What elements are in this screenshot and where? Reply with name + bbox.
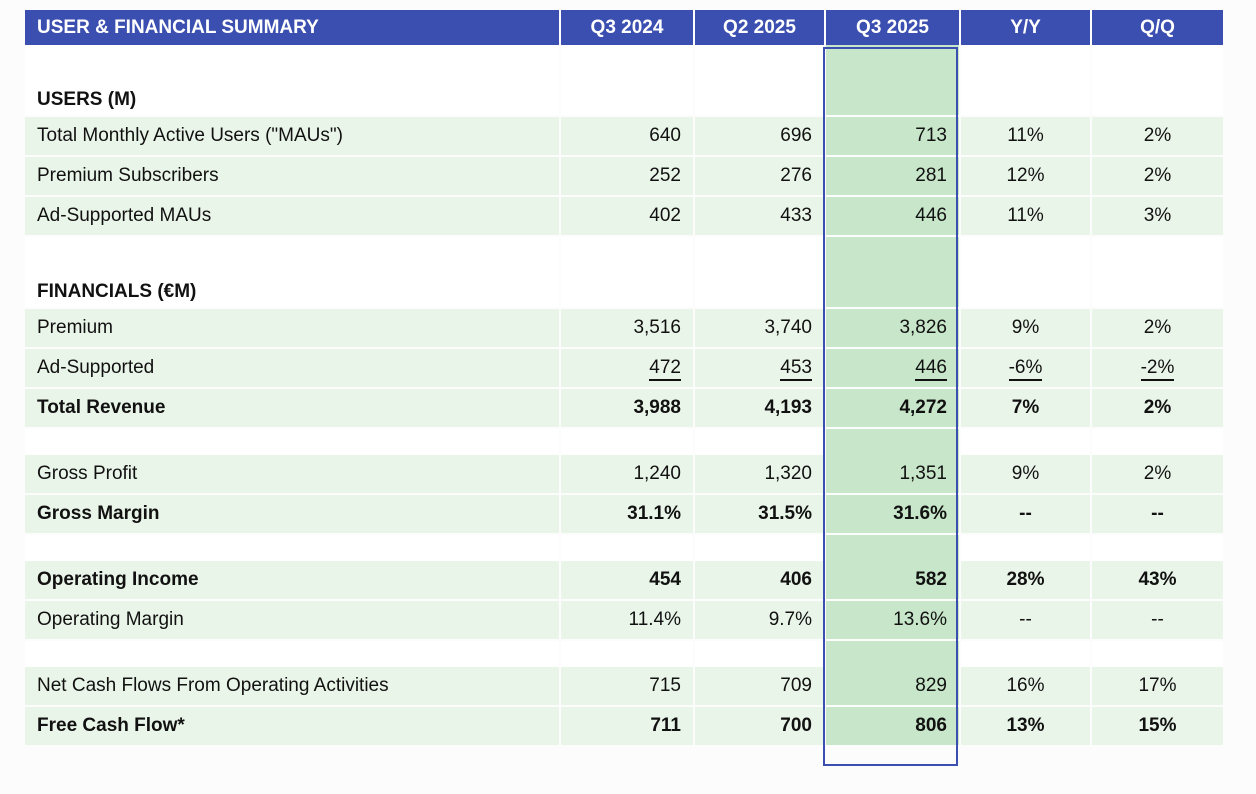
cell-q3-2025: 3,826 [825,308,960,348]
cell-q2-2025: 3,740 [694,308,825,348]
table-row-gross-margin: Gross Margin 31.1% 31.5% 31.6% -- -- [25,494,1223,534]
cell-yy: -6% [960,348,1091,388]
cell-q2-2025: 433 [694,196,825,236]
table-row: Net Cash Flows From Operating Activities… [25,667,1223,706]
spacer-cell [960,428,1091,455]
cell-q3-2024: 472 [560,348,694,388]
row-label: Total Monthly Active Users ("MAUs") [25,116,560,156]
table-row: Premium 3,516 3,740 3,826 9% 2% [25,308,1223,348]
section-heading-cell-highlight [825,263,960,308]
cell-q3-2024: 1,240 [560,455,694,494]
cell-qq: 2% [1091,455,1223,494]
cell-yy: 12% [960,156,1091,196]
row-label: Gross Margin [25,494,560,534]
section-heading-cell [960,71,1091,116]
spacer-cell [25,236,560,263]
table-row: Gross Profit 1,240 1,320 1,351 9% 2% [25,455,1223,494]
section-heading-label: USERS (M) [25,71,560,116]
cell-q2-2025: 696 [694,116,825,156]
table-row-free-cash-flow: Free Cash Flow* 711 700 806 13% 15% [25,706,1223,746]
cell-q2-2025: 4,193 [694,388,825,428]
cell-value: -2% [1141,357,1175,381]
cell-qq: 43% [1091,561,1223,600]
header-col-q3-2025: Q3 2025 [825,10,960,45]
cell-yy: 11% [960,196,1091,236]
header-row: USER & FINANCIAL SUMMARY Q3 2024 Q2 2025… [25,10,1223,45]
header-col-q2-2025: Q2 2025 [694,10,825,45]
spacer-cell [25,640,560,667]
cell-q2-2025: 276 [694,156,825,196]
spacer-cell [560,534,694,561]
header-title: USER & FINANCIAL SUMMARY [25,10,560,45]
cell-q3-2025: 582 [825,561,960,600]
header-col-qq: Q/Q [1091,10,1223,45]
spacer-cell-highlight [825,640,960,667]
cell-q2-2025: 1,320 [694,455,825,494]
spacer-cell [694,640,825,667]
financial-summary-table: USER & FINANCIAL SUMMARY Q3 2024 Q2 2025… [25,10,1223,747]
spacer-cell [694,534,825,561]
section-heading-cell [560,71,694,116]
row-label: Operating Income [25,561,560,600]
spacer-row [25,534,1223,561]
cell-qq: 2% [1091,308,1223,348]
spacer-cell [1091,640,1223,667]
row-label: Premium Subscribers [25,156,560,196]
cell-yy: 16% [960,667,1091,706]
table-row: Premium Subscribers 252 276 281 12% 2% [25,156,1223,196]
cell-q3-2025: 713 [825,116,960,156]
row-label: Net Cash Flows From Operating Activities [25,667,560,706]
spacer-row [25,236,1223,263]
cell-q3-2025: 829 [825,667,960,706]
cell-qq: 3% [1091,196,1223,236]
cell-yy: 28% [960,561,1091,600]
cell-value: 453 [780,357,812,381]
spacer-cell-highlight [825,45,960,71]
spacer-cell [694,45,825,71]
cell-q3-2025: 281 [825,156,960,196]
financial-summary-table-container: USER & FINANCIAL SUMMARY Q3 2024 Q2 2025… [25,10,1223,747]
cell-yy: 11% [960,116,1091,156]
cell-qq: -- [1091,494,1223,534]
cell-q3-2024: 640 [560,116,694,156]
cell-q2-2025: 709 [694,667,825,706]
cell-value: 446 [915,357,947,381]
cell-value: -6% [1009,357,1043,381]
cell-q3-2025: 4,272 [825,388,960,428]
section-heading-users: USERS (M) [25,71,1223,116]
table-header: USER & FINANCIAL SUMMARY Q3 2024 Q2 2025… [25,10,1223,45]
header-col-q3-2024: Q3 2024 [560,10,694,45]
cell-q2-2025: 31.5% [694,494,825,534]
cell-q3-2024: 454 [560,561,694,600]
table-row: Ad-Supported MAUs 402 433 446 11% 3% [25,196,1223,236]
table-row-operating-income: Operating Income 454 406 582 28% 43% [25,561,1223,600]
cell-q3-2024: 252 [560,156,694,196]
cell-q3-2025: 446 [825,196,960,236]
cell-yy: 7% [960,388,1091,428]
spacer-cell [1091,45,1223,71]
spacer-row [25,45,1223,71]
row-label: Operating Margin [25,600,560,640]
cell-value: 472 [649,357,681,381]
cell-q3-2025: 806 [825,706,960,746]
spacer-row [25,428,1223,455]
cell-q3-2025: 1,351 [825,455,960,494]
cell-q2-2025: 453 [694,348,825,388]
spacer-cell [694,236,825,263]
cell-q3-2024: 3,516 [560,308,694,348]
cell-qq: 2% [1091,156,1223,196]
spacer-cell [560,640,694,667]
cell-q3-2024: 711 [560,706,694,746]
cell-yy: 13% [960,706,1091,746]
row-label: Premium [25,308,560,348]
header-col-yy: Y/Y [960,10,1091,45]
table-row: Total Monthly Active Users ("MAUs") 640 … [25,116,1223,156]
table-row-total-revenue: Total Revenue 3,988 4,193 4,272 7% 2% [25,388,1223,428]
spacer-cell [25,428,560,455]
spacer-cell [25,45,560,71]
row-label: Gross Profit [25,455,560,494]
cell-qq: -- [1091,600,1223,640]
cell-q3-2024: 402 [560,196,694,236]
cell-q3-2024: 3,988 [560,388,694,428]
section-heading-cell [694,71,825,116]
spacer-cell [560,236,694,263]
section-heading-cell [1091,71,1223,116]
spacer-cell-highlight [825,428,960,455]
section-heading-financials: FINANCIALS (€M) [25,263,1223,308]
section-heading-cell [560,263,694,308]
cell-qq: 15% [1091,706,1223,746]
table-body: USERS (M) Total Monthly Active Users ("M… [25,45,1223,746]
row-label: Free Cash Flow* [25,706,560,746]
section-heading-cell-highlight [825,71,960,116]
section-heading-label: FINANCIALS (€M) [25,263,560,308]
row-label: Ad-Supported [25,348,560,388]
spacer-cell [1091,534,1223,561]
section-heading-cell [694,263,825,308]
spacer-cell [960,640,1091,667]
spacer-cell [960,534,1091,561]
spacer-cell [1091,428,1223,455]
cell-q3-2024: 31.1% [560,494,694,534]
spacer-cell [960,45,1091,71]
cell-q3-2024: 715 [560,667,694,706]
cell-qq: -2% [1091,348,1223,388]
row-label: Ad-Supported MAUs [25,196,560,236]
cell-q3-2025: 13.6% [825,600,960,640]
cell-qq: 2% [1091,388,1223,428]
cell-q3-2025: 31.6% [825,494,960,534]
spacer-cell-highlight [825,534,960,561]
cell-q2-2025: 406 [694,561,825,600]
spacer-cell [25,534,560,561]
table-row: Ad-Supported 472 453 446 -6% -2% [25,348,1223,388]
spacer-cell [960,236,1091,263]
spacer-cell [560,428,694,455]
spacer-cell [1091,236,1223,263]
cell-q3-2025: 446 [825,348,960,388]
cell-q2-2025: 700 [694,706,825,746]
spacer-cell [560,45,694,71]
table-row: Operating Margin 11.4% 9.7% 13.6% -- -- [25,600,1223,640]
spacer-cell [694,428,825,455]
cell-yy: -- [960,600,1091,640]
cell-q3-2024: 11.4% [560,600,694,640]
row-label: Total Revenue [25,388,560,428]
spacer-cell-highlight [825,236,960,263]
cell-q2-2025: 9.7% [694,600,825,640]
cell-qq: 2% [1091,116,1223,156]
cell-yy: -- [960,494,1091,534]
cell-yy: 9% [960,455,1091,494]
cell-qq: 17% [1091,667,1223,706]
section-heading-cell [960,263,1091,308]
cell-yy: 9% [960,308,1091,348]
spacer-row [25,640,1223,667]
section-heading-cell [1091,263,1223,308]
